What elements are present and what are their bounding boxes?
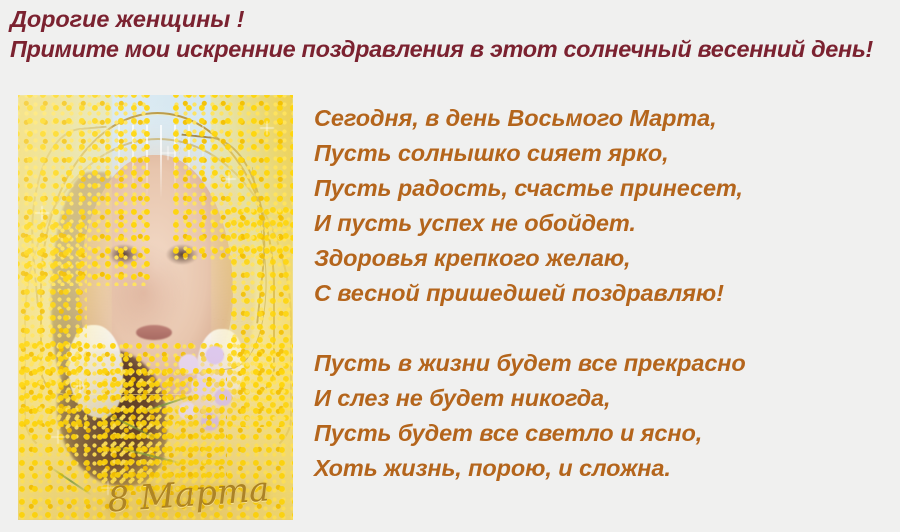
poem-stanza-gap [314, 311, 874, 346]
poem-s2-line-4: Хоть жизнь, порою, и сложна. [314, 451, 874, 486]
photo-illustration: 8 Марта [18, 95, 293, 520]
greeting-header: Дорогие женщины ! Примите мои искренние … [10, 4, 890, 64]
greeting-line-2: Примите мои искренние поздравления в это… [10, 34, 890, 64]
poem-s1-line-1: Сегодня, в день Восьмого Марта, [314, 101, 874, 136]
poem-s1-line-6: С весной пришедшей поздравляю! [314, 276, 874, 311]
poem-s1-line-3: Пусть радость, счастье принесет, [314, 171, 874, 206]
sparkle-icon [161, 146, 175, 160]
sparkle-icon [35, 206, 49, 220]
poem-s2-line-2: И слез не будет никогда, [314, 381, 874, 416]
sparkle-icon [222, 172, 236, 186]
photo-mimosa-bouquet [101, 367, 228, 495]
poem-s1-line-5: Здоровья крепкого желаю, [314, 241, 874, 276]
poem-s2-line-3: Пусть будет все светло и ясно, [314, 416, 874, 451]
greeting-photo-card: 8 Марта [18, 95, 293, 520]
poem-s1-line-2: Пусть солнышко сияет ярко, [314, 136, 874, 171]
poem-block: Сегодня, в день Восьмого Марта, Пусть со… [314, 101, 874, 486]
poem-s2-line-1: Пусть в жизни будет все прекрасно [314, 346, 874, 381]
sparkle-icon [73, 379, 87, 393]
sparkle-icon [260, 121, 274, 135]
poem-s1-line-4: И пусть успех не обойдет. [314, 206, 874, 241]
sparkle-icon [101, 481, 115, 495]
sparkle-icon [51, 430, 65, 444]
greeting-line-1: Дорогие женщины ! [10, 4, 890, 34]
